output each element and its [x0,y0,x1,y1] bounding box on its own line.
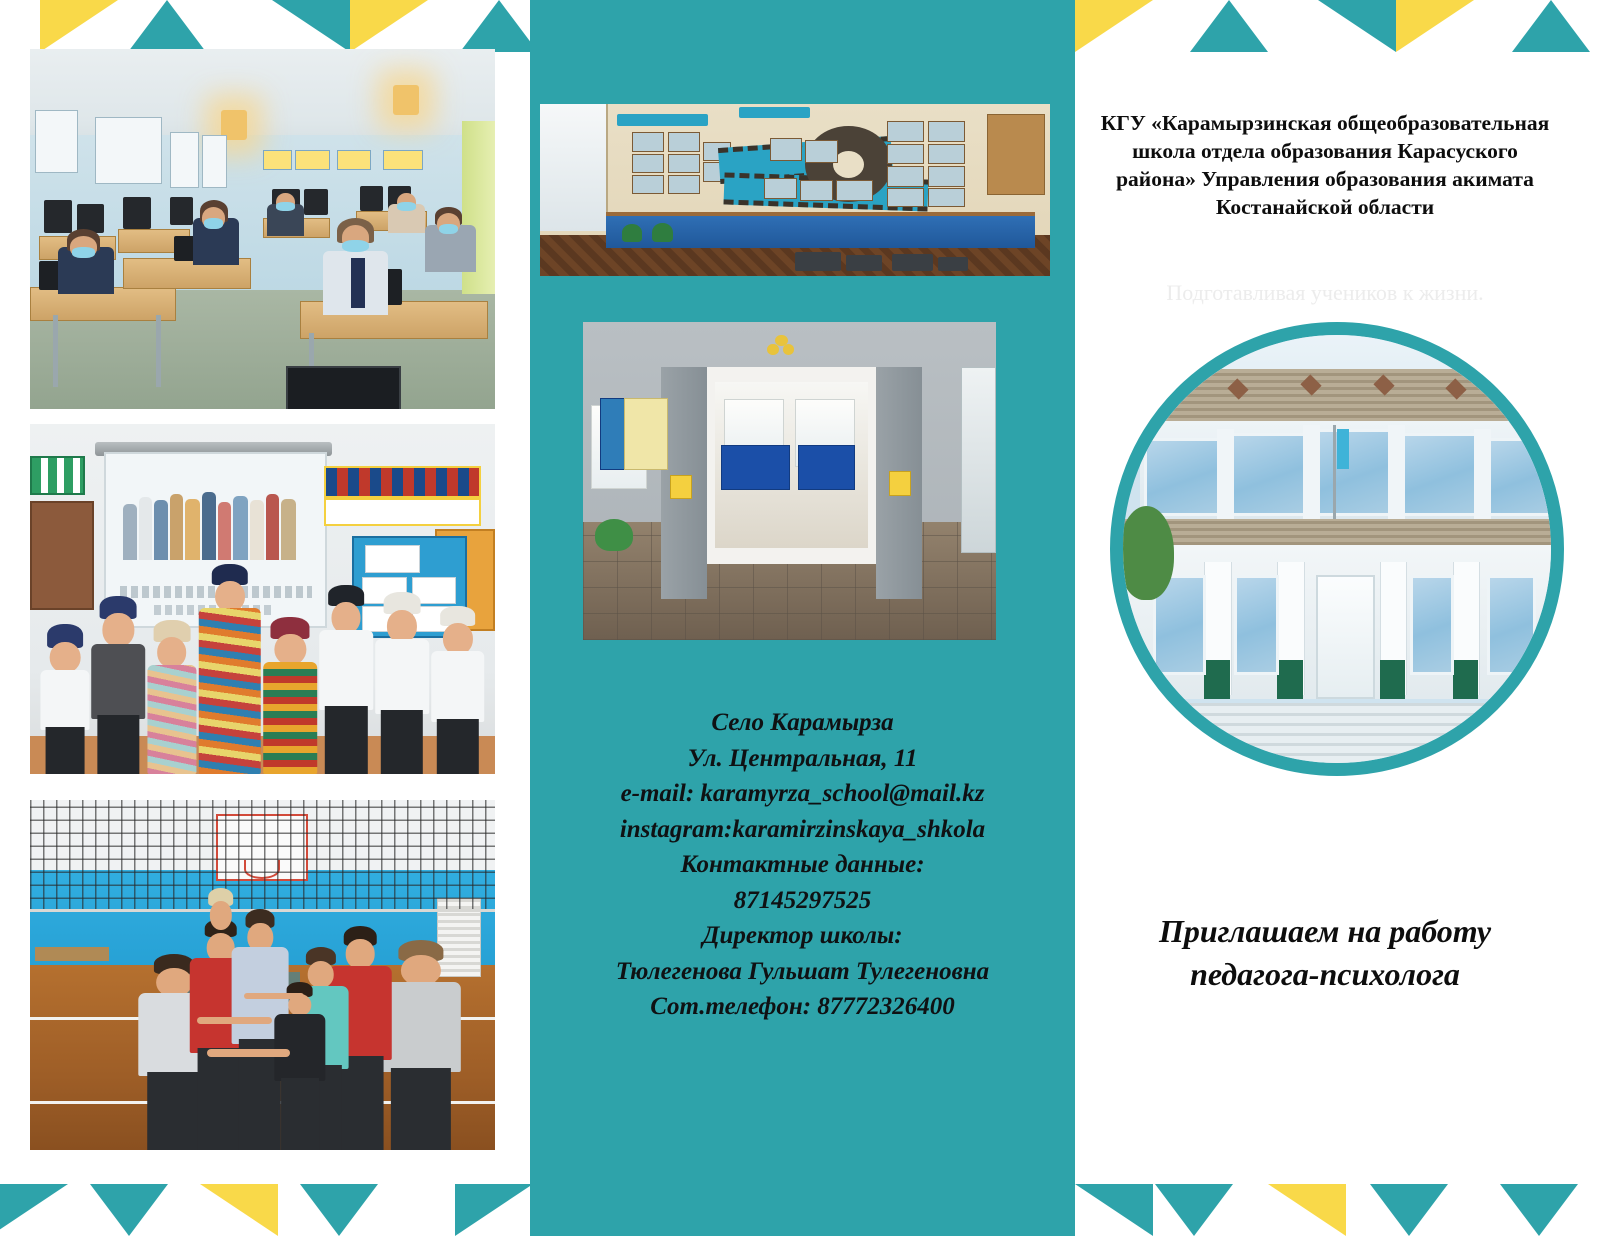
director-label: Директор школы: [545,918,1060,954]
photo-computer-class [30,49,495,409]
border-triangle [1268,1184,1346,1236]
invitation-line-2: педагога-психолога [1085,953,1565,996]
contact-mobile[interactable]: Сот.телефон: 87772326400 [545,989,1060,1025]
border-triangle [300,1184,378,1236]
border-triangle [460,0,538,52]
watermark-tagline: Подготавливая учеников к жизни. [1090,280,1560,306]
contact-street: Ул. Центральная, 11 [545,741,1060,777]
border-triangle [1155,1184,1233,1236]
border-triangle [0,1184,68,1236]
border-triangle [455,1184,533,1236]
contact-label: Контактные данные: [545,847,1060,883]
photo-national-day [30,424,495,774]
border-triangle [90,1184,168,1236]
border-triangle [1075,0,1153,52]
border-triangle [40,0,118,52]
border-triangle [1190,0,1268,52]
photo-corridor [583,322,996,640]
contact-phone[interactable]: 87145297525 [545,883,1060,919]
contact-village: Село Карамырза [545,705,1060,741]
photo-museum-room [540,104,1050,276]
border-triangle [272,0,350,52]
brochure-page: КГУ «Карамырзинская общеобразовательная … [0,0,1600,1236]
border-triangle [1500,1184,1578,1236]
job-invitation: Приглашаем на работу педагога-психолога [1085,910,1565,996]
border-triangle [1075,1184,1153,1236]
contact-instagram[interactable]: instagram:karamirzinskaya_shkola [545,812,1060,848]
contact-block: Село Карамырза Ул. Центральная, 11 e-mai… [545,705,1060,1025]
director-name: Тюлегенова Гульшат Тулегеновна [545,954,1060,990]
photo-gym [30,800,495,1150]
school-title: КГУ «Карамырзинская общеобразовательная … [1090,110,1560,222]
border-triangle [1512,0,1590,52]
border-triangle [1318,0,1396,52]
border-triangle [350,0,428,52]
border-triangle [128,0,206,52]
border-triangle [1370,1184,1448,1236]
border-triangle [1396,0,1474,52]
photo-school-building [1110,322,1564,776]
contact-email[interactable]: e-mail: karamyrza_school@mail.kz [545,776,1060,812]
invitation-line-1: Приглашаем на работу [1085,910,1565,953]
border-triangle [200,1184,278,1236]
